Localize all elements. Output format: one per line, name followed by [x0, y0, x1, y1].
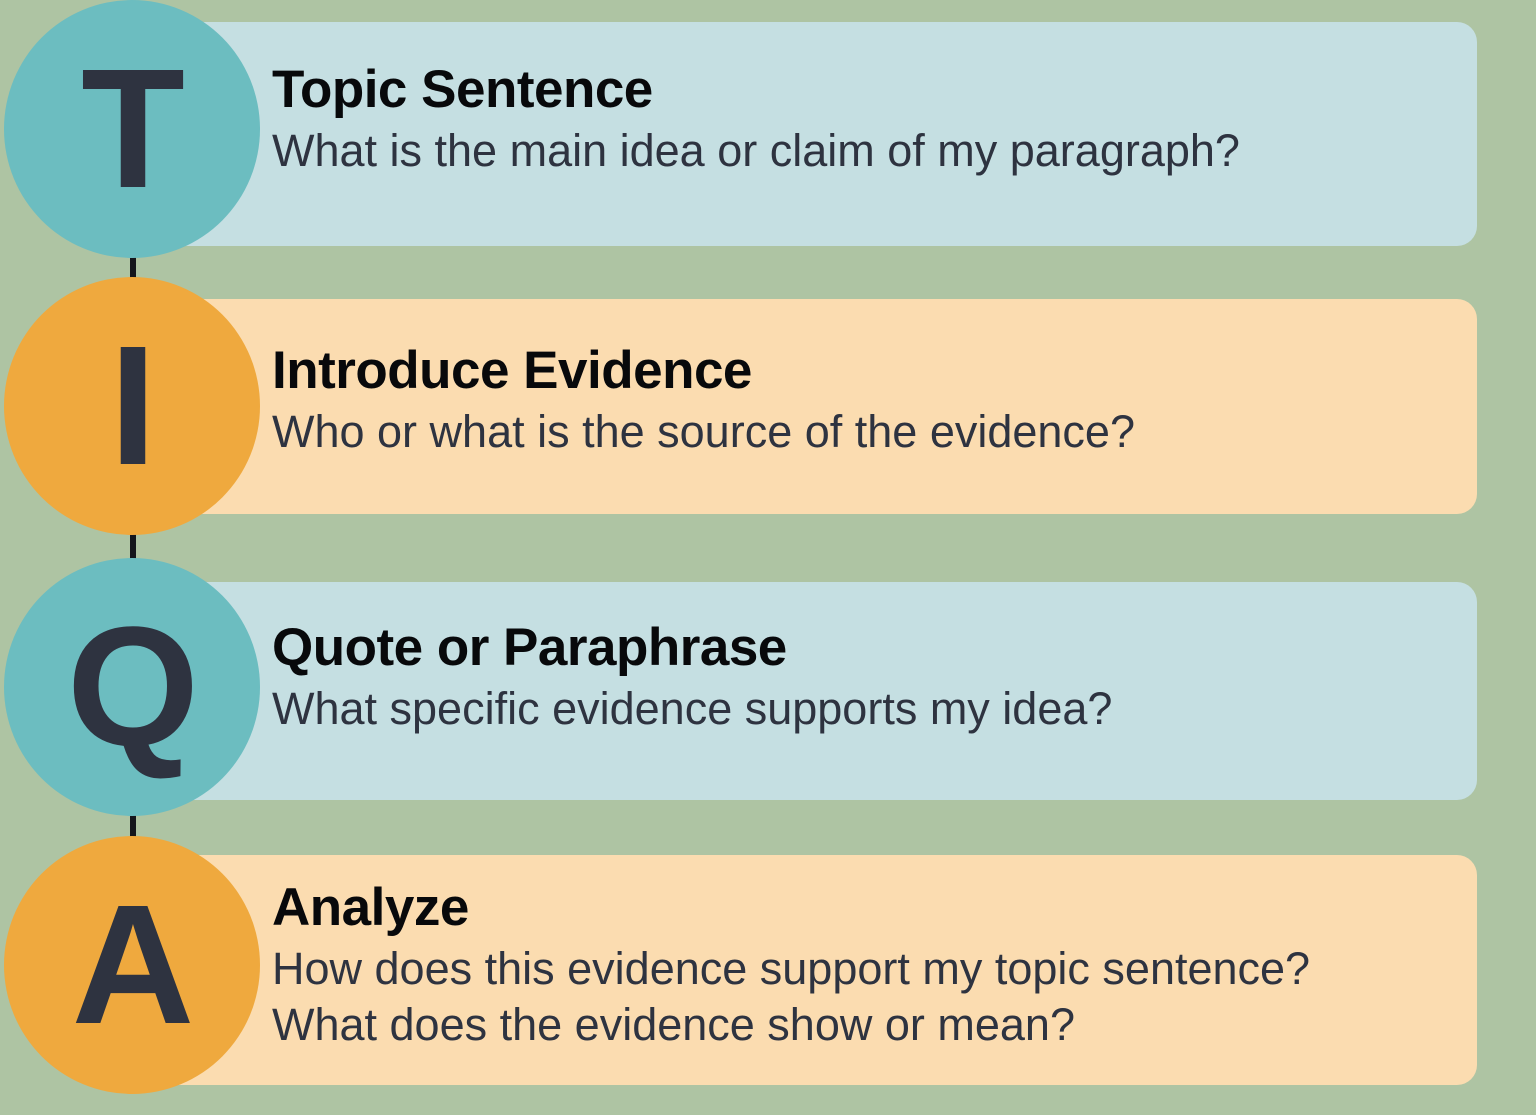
step-badge-analyze: A — [4, 836, 260, 1094]
step-badge-topic-sentence: T — [4, 0, 260, 258]
badge-letter-i: I — [109, 321, 154, 491]
step-badge-introduce-evidence: I — [4, 277, 260, 535]
tiqa-diagram: T Topic Sentence What is the main idea o… — [0, 0, 1536, 1115]
step-description-analyze-line-2: What does the evidence show or mean? — [272, 997, 1452, 1053]
step-description-topic-sentence-line-1: What is the main idea or claim of my par… — [272, 123, 1452, 179]
badge-letter-q: Q — [67, 602, 197, 772]
step-title-quote-or-paraphrase: Quote or Paraphrase — [272, 620, 1452, 675]
step-description-quote-or-paraphrase-line-1: What specific evidence supports my idea? — [272, 681, 1452, 737]
step-badge-quote-or-paraphrase: Q — [4, 558, 260, 816]
step-title-topic-sentence: Topic Sentence — [272, 62, 1452, 117]
step-text-topic-sentence: Topic Sentence What is the main idea or … — [272, 62, 1452, 179]
step-description-introduce-evidence-line-1: Who or what is the source of the evidenc… — [272, 404, 1452, 460]
badge-letter-t: T — [81, 44, 183, 214]
step-title-analyze: Analyze — [272, 880, 1452, 935]
step-text-introduce-evidence: Introduce Evidence Who or what is the so… — [272, 343, 1452, 460]
step-title-introduce-evidence: Introduce Evidence — [272, 343, 1452, 398]
step-text-quote-or-paraphrase: Quote or Paraphrase What specific eviden… — [272, 620, 1452, 737]
step-description-analyze-line-1: How does this evidence support my topic … — [272, 941, 1452, 997]
step-text-analyze: Analyze How does this evidence support m… — [272, 880, 1452, 1053]
badge-letter-a: A — [72, 880, 193, 1050]
